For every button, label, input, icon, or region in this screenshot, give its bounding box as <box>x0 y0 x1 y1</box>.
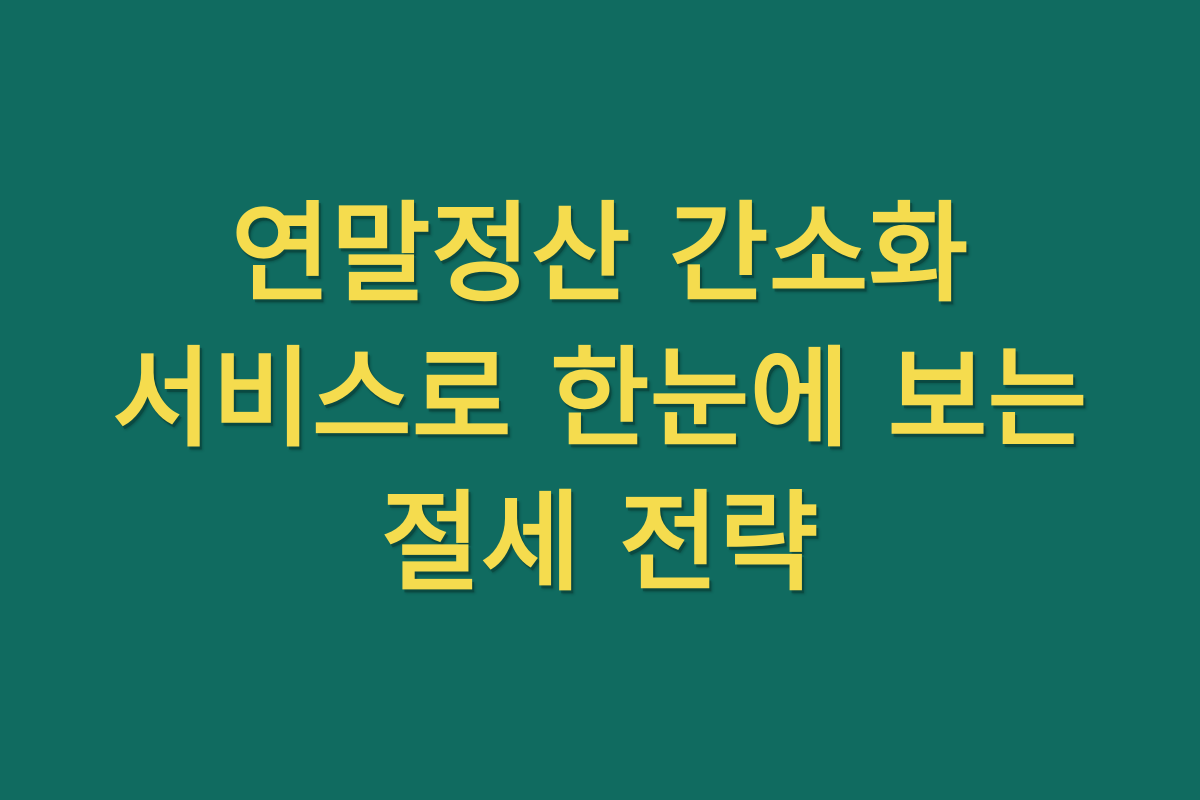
banner-title: 연말정산 간소화 서비스로 한눈에 보는 절세 전략 <box>85 183 1115 617</box>
banner-card: 연말정산 간소화 서비스로 한눈에 보는 절세 전략 <box>0 0 1200 800</box>
title-block: 연말정산 간소화 서비스로 한눈에 보는 절세 전략 <box>85 183 1115 617</box>
